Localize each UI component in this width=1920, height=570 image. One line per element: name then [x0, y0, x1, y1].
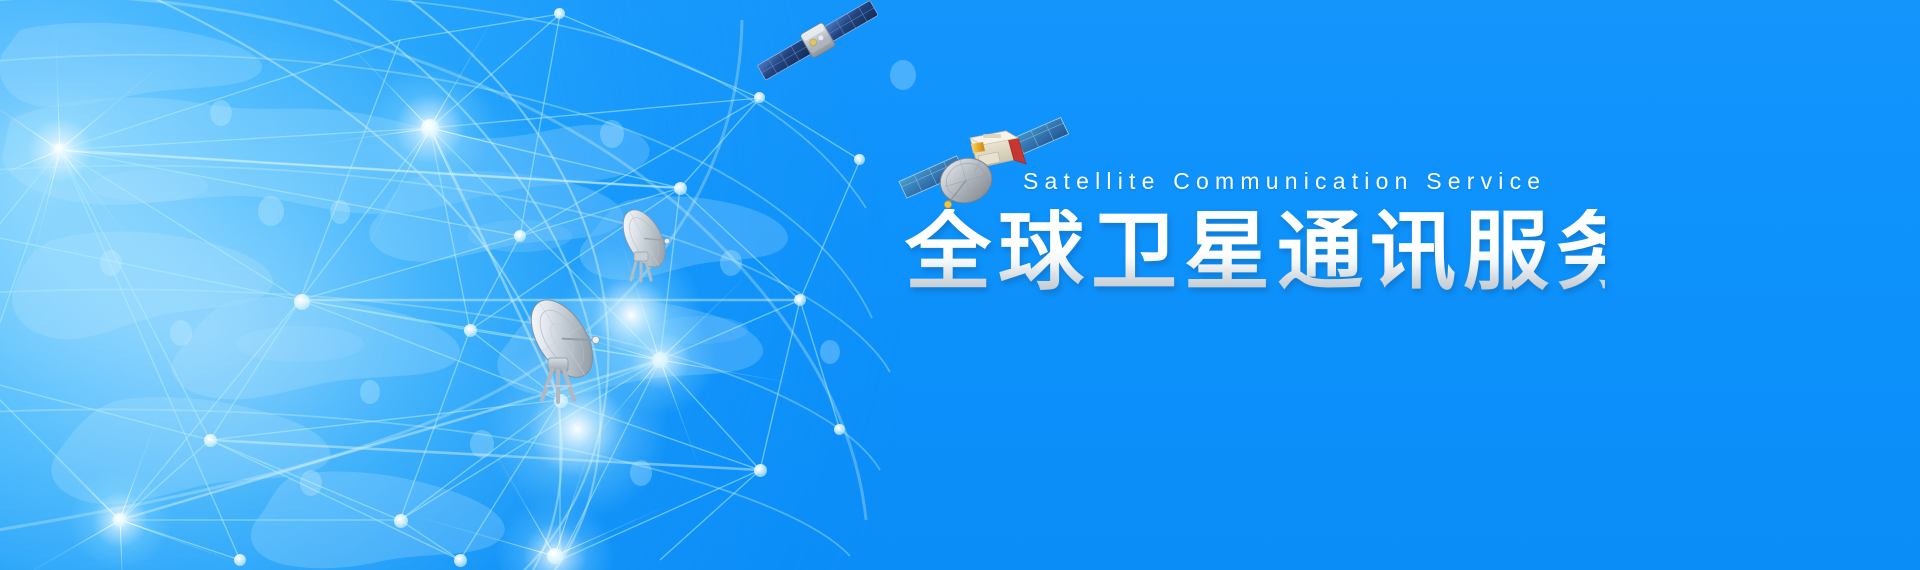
chinese-headline: 全球卫星通讯服务	[905, 209, 1605, 297]
satellite-banner: Satellite Communication Service 全球卫星通讯服务	[0, 0, 1920, 570]
english-subtitle: Satellite Communication Service	[1023, 168, 1605, 195]
headline-block: Satellite Communication Service 全球卫星通讯服务	[905, 168, 1605, 297]
network-node-soft	[890, 60, 916, 90]
